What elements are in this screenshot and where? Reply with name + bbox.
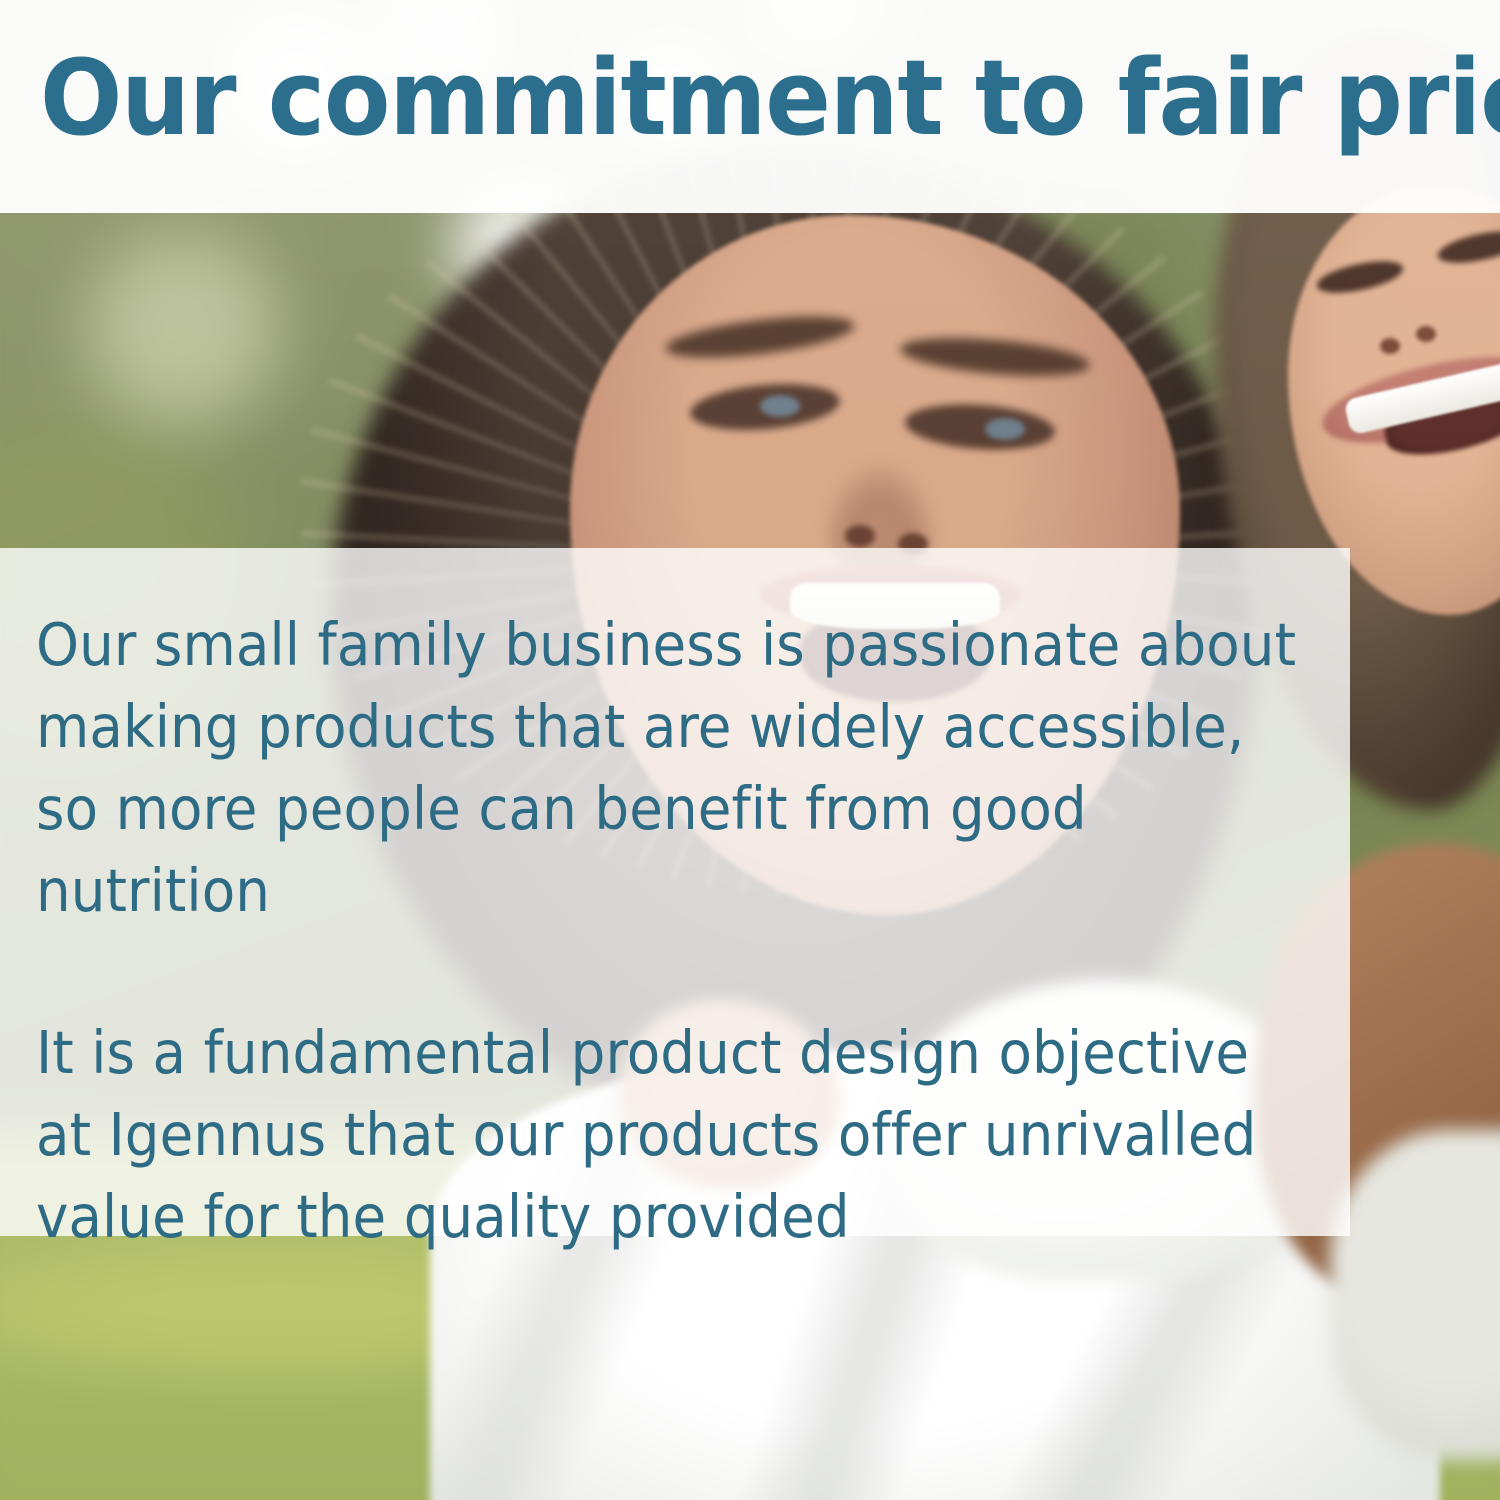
header-band: Our commitment to fair pricing <box>0 0 1500 213</box>
woman-iris-left <box>760 395 800 417</box>
child-nostril-left <box>1380 338 1400 354</box>
woman-iris-right <box>985 418 1025 440</box>
infographic-canvas: Our commitment to fair pricing Our small… <box>0 0 1500 1500</box>
page-title: Our commitment to fair pricing <box>40 46 1500 150</box>
child-knit-sleeve <box>1330 1130 1500 1460</box>
child-nostril-right <box>1416 326 1436 342</box>
body-paragraph-1: Our small family business is passionate … <box>36 604 1303 932</box>
body-copy-panel: Our small family business is passionate … <box>0 548 1350 1236</box>
body-paragraph-2: It is a fundamental product design objec… <box>36 1012 1303 1258</box>
woman-nostril-left <box>845 525 875 547</box>
